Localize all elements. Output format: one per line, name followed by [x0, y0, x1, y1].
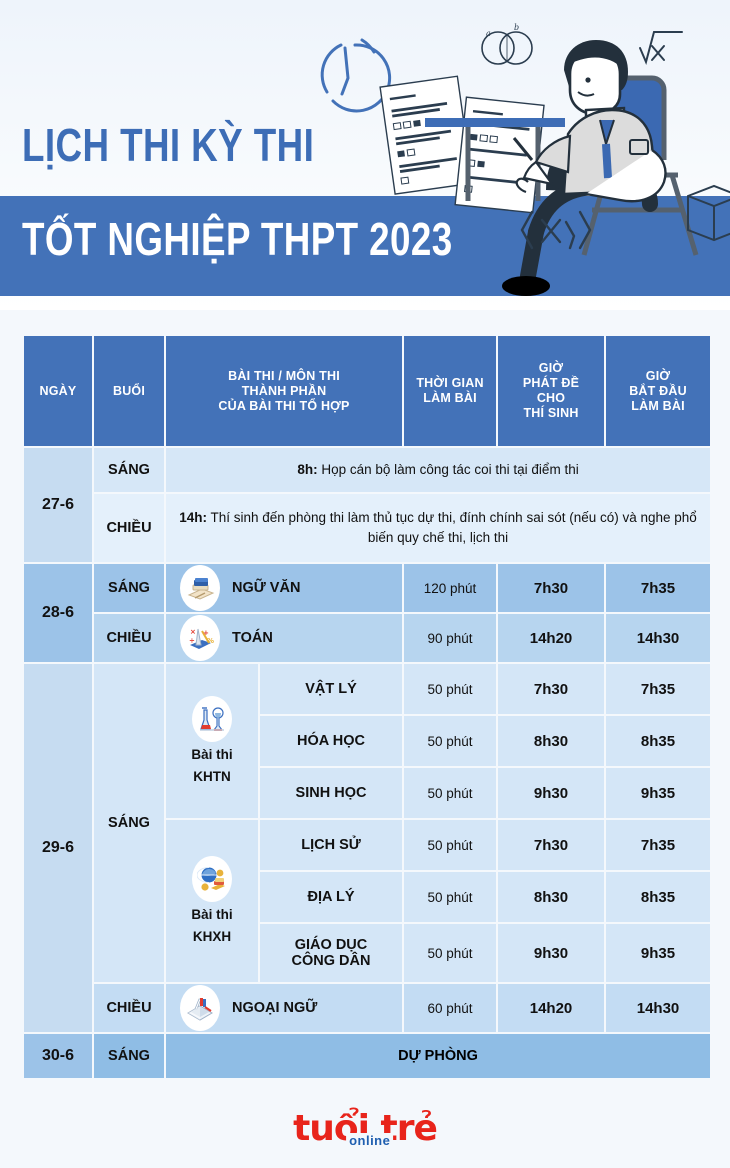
subject-name: NGOẠI NGỮ	[232, 1000, 317, 1016]
table-row: 29-6 SÁNG	[24, 664, 710, 714]
table-row: CHIỀU 14h: Thí sinh đến phòng thi làm th…	[24, 494, 710, 562]
group-label-line2: KHXH	[193, 928, 231, 946]
session-cell-sang: SÁNG	[94, 448, 164, 492]
subject-name: TOÁN	[232, 630, 273, 646]
open-book-flags-icon	[180, 985, 220, 1031]
exam-schedule-table: NGÀY BUỔI BÀI THI / MÔN THI THÀNH PHẦN C…	[22, 334, 712, 1080]
day-cell-28-6: 28-6	[24, 564, 92, 662]
session-cell-sang: SÁNG	[94, 1034, 164, 1078]
table-row: 28-6 SÁNG NGỮ VĂN 120 p	[24, 564, 710, 612]
svg-text:÷: ÷	[189, 637, 195, 645]
books-icon	[180, 565, 220, 611]
handout-time-cell: 9h30	[498, 768, 604, 818]
group-label-line2: KHTN	[193, 768, 231, 786]
svg-text:a: a	[486, 29, 491, 38]
group-label-line1: Bài thi	[191, 746, 232, 764]
subject-cell-giao-duc-cong-dan: GIÁO DỤC CÔNG DÂN	[260, 924, 402, 982]
sqrt-x-formula	[640, 32, 682, 62]
col-header-ngay: NGÀY	[24, 336, 92, 446]
venn-diagram-icon: a b	[482, 23, 532, 64]
subject-cell-ngoai-ngu: NGOẠI NGỮ	[166, 984, 402, 1032]
duration-cell: 50 phút	[404, 716, 496, 766]
handout-time-cell: 14h20	[498, 614, 604, 662]
hero-banner: LỊCH THI KỲ THI TỐT NGHIỆP THPT 2023 a b	[0, 0, 730, 310]
group-cell-khtn: Bài thi KHTN	[166, 664, 258, 818]
page-title-line1: LỊCH THI KỲ THI	[22, 122, 314, 168]
group-label-line1: Bài thi	[191, 906, 232, 924]
handout-time-cell: 9h30	[498, 924, 604, 982]
subject-name-line2: CÔNG DÂN	[260, 953, 402, 969]
session-cell-sang: SÁNG	[94, 664, 164, 982]
handout-time-cell: 7h30	[498, 564, 604, 612]
session-cell-sang: SÁNG	[94, 564, 164, 612]
svg-text:b: b	[514, 23, 519, 32]
globe-books-icon	[192, 856, 232, 902]
start-time-cell: 7h35	[606, 820, 710, 870]
group-cell-khxh: Bài thi KHXH	[166, 820, 258, 982]
handout-time-cell: 8h30	[498, 716, 604, 766]
handout-time-cell: 7h30	[498, 664, 604, 714]
duration-cell: 50 phút	[404, 820, 496, 870]
subject-name: NGỮ VĂN	[232, 580, 300, 596]
svg-text:×: ×	[190, 628, 196, 636]
start-time-cell: 8h35	[606, 716, 710, 766]
subject-cell-toan: + × % ÷ TOÁN	[166, 614, 402, 662]
note-time: 14h:	[179, 510, 207, 525]
note-cell-afternoon-27-6: 14h: Thí sinh đến phòng thi làm thủ tục …	[166, 494, 710, 562]
session-cell-chieu: CHIỀU	[94, 984, 164, 1032]
math-icon: + × % ÷	[180, 615, 220, 661]
page-title-line2: TỐT NGHIỆP THPT 2023	[22, 216, 453, 262]
note-cell-du-phong: DỰ PHÒNG	[166, 1034, 710, 1078]
session-cell-chieu: CHIỀU	[94, 614, 164, 662]
logo-sub-text: online	[346, 1133, 393, 1148]
clock-icon	[322, 40, 389, 111]
table-header-row: NGÀY BUỔI BÀI THI / MÔN THI THÀNH PHẦN C…	[24, 336, 710, 446]
note-time: 8h:	[297, 462, 317, 477]
day-cell-27-6: 27-6	[24, 448, 92, 562]
duration-cell: 90 phút	[404, 614, 496, 662]
start-time-cell: 7h35	[606, 664, 710, 714]
col-header-bai-thi: BÀI THI / MÔN THI THÀNH PHẦN CỦA BÀI THI…	[166, 336, 402, 446]
note-text: Thí sinh đến phòng thi làm thủ tục dự th…	[207, 510, 697, 545]
table-row: CHIỀU + × % ÷ TOÁN	[24, 614, 710, 662]
table-row: 27-6 SÁNG 8h: Họp cán bộ làm công tác co…	[24, 448, 710, 492]
handout-time-cell: 7h30	[498, 820, 604, 870]
subject-cell-lich-su: LỊCH SỬ	[260, 820, 402, 870]
day-cell-29-6: 29-6	[24, 664, 92, 1032]
tuoitre-online-logo[interactable]: tuổi trẻ online	[293, 1112, 437, 1146]
duration-cell: 50 phút	[404, 768, 496, 818]
col-header-gio-phat-de: GIỜ PHÁT ĐỀ CHO THÍ SINH	[498, 336, 604, 446]
desk	[425, 118, 565, 127]
svg-text:+: +	[203, 629, 209, 637]
handout-time-cell: 14h20	[498, 984, 604, 1032]
col-header-gio-bat-dau: GIỜ BẮT ĐẦU LÀM BÀI	[606, 336, 710, 446]
svg-text:%: %	[207, 637, 214, 645]
subject-cell-sinh-hoc: SINH HỌC	[260, 768, 402, 818]
subject-name-line1: GIÁO DỤC	[260, 937, 402, 953]
duration-cell: 50 phút	[404, 664, 496, 714]
col-header-thoi-gian: THỜI GIAN LÀM BÀI	[404, 336, 496, 446]
duration-cell: 50 phút	[404, 872, 496, 922]
start-time-cell: 7h35	[606, 564, 710, 612]
subject-cell-vat-ly: VẬT LÝ	[260, 664, 402, 714]
handout-time-cell: 8h30	[498, 872, 604, 922]
footer: tuổi trẻ online	[0, 1090, 730, 1168]
subject-cell-ngu-van: NGỮ VĂN	[166, 564, 402, 612]
start-time-cell: 8h35	[606, 872, 710, 922]
start-time-cell: 9h35	[606, 768, 710, 818]
subject-cell-hoa-hoc: HÓA HỌC	[260, 716, 402, 766]
duration-cell: 120 phút	[404, 564, 496, 612]
table-row: CHIỀU NGOẠI NGỮ	[24, 984, 710, 1032]
note-cell-morning-27-6: 8h: Họp cán bộ làm công tác coi thi tại …	[166, 448, 710, 492]
duration-cell: 50 phút	[404, 924, 496, 982]
cube-icon	[688, 186, 730, 240]
start-time-cell: 14h30	[606, 984, 710, 1032]
exam-schedule-table-wrapper: NGÀY BUỔI BÀI THI / MÔN THI THÀNH PHẦN C…	[22, 334, 708, 1080]
day-cell-30-6: 30-6	[24, 1034, 92, 1078]
note-text: Họp cán bộ làm công tác coi thi tại điểm…	[318, 462, 579, 477]
duration-cell: 60 phút	[404, 984, 496, 1032]
table-row: 30-6 SÁNG DỰ PHÒNG	[24, 1034, 710, 1078]
start-time-cell: 9h35	[606, 924, 710, 982]
session-cell-chieu: CHIỀU	[94, 494, 164, 562]
subject-cell-dia-ly: ĐỊA LÝ	[260, 872, 402, 922]
lab-flask-icon	[192, 696, 232, 742]
start-time-cell: 14h30	[606, 614, 710, 662]
col-header-buoi: BUỔI	[94, 336, 164, 446]
